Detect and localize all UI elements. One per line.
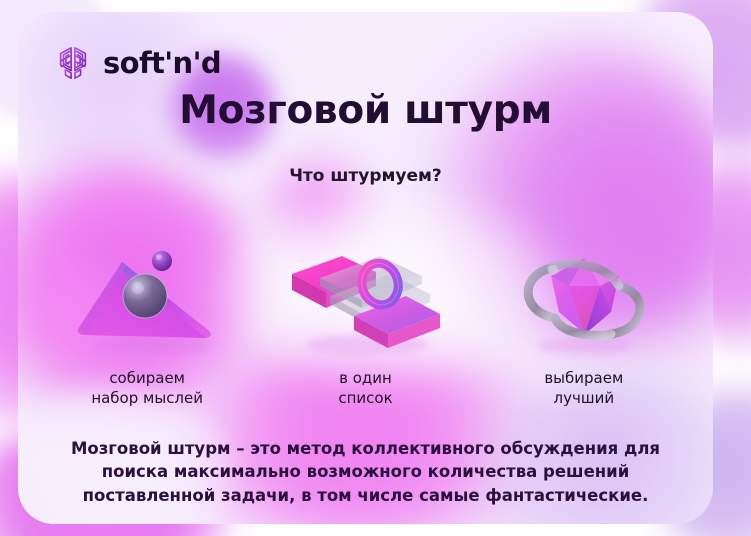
step-item-3: выбираем лучший [475,234,693,409]
step-caption: собираем набор мыслей [91,368,203,409]
page-subtitle: Что штурмуем? [18,166,713,186]
step-item-2: в один список [256,234,474,409]
brand-logo[interactable]: soft'n'd [54,44,221,82]
gem-spiral-3d-icon [499,234,669,364]
stacked-slabs-3d-icon [280,234,450,364]
slide-canvas: soft'n'd Мозговой штурм Что штурмуем? [0,0,751,536]
summary-paragraph: Мозговой штурм – это метод коллективного… [66,437,665,507]
steps-row: собираем набор мыслей [38,234,693,409]
step-item-1: собираем набор мыслей [38,234,256,409]
page-title: Мозговой штурм [18,88,713,133]
slide-card: soft'n'd Мозговой штурм Что штурмуем? [18,12,713,524]
step-caption: в один список [338,368,392,409]
hexagon-brain-logo-icon [54,44,92,82]
step-caption: выбираем лучший [544,368,623,409]
triangle-spheres-3d-icon [62,234,232,364]
brand-wordmark: soft'n'd [103,46,221,80]
